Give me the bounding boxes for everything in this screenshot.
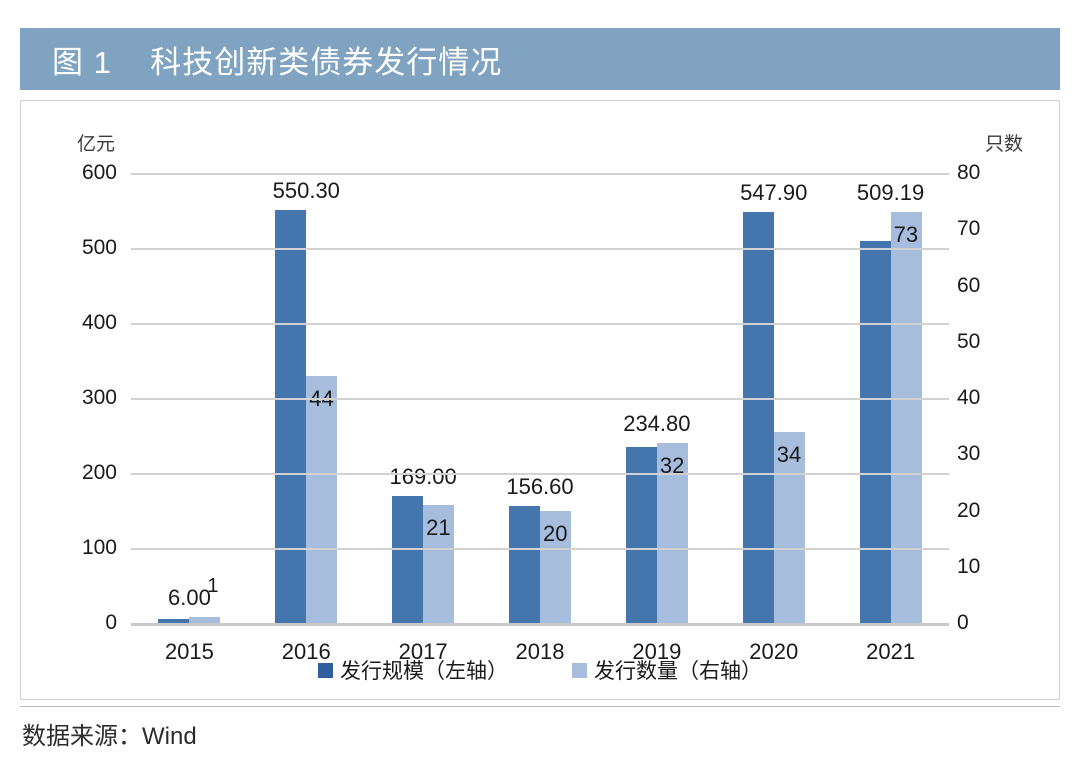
- right-axis-tick: 80: [957, 161, 1017, 185]
- right-axis-tick: 50: [957, 330, 1017, 354]
- right-axis-unit-label: 只数: [985, 129, 1023, 156]
- bar-count-label: 1: [207, 575, 218, 598]
- legend-swatch-icon: [318, 663, 333, 678]
- source-divider: [20, 706, 1060, 707]
- bar-count-label: 32: [660, 453, 684, 479]
- left-axis-tick: 0: [57, 611, 117, 635]
- chart-legend: 发行规模（左轴）发行数量（右轴）: [21, 655, 1059, 685]
- source-note: 数据来源：Wind: [22, 716, 197, 751]
- gridline: [131, 173, 949, 175]
- legend-swatch-icon: [572, 663, 587, 678]
- bar-value-label: 509.19: [857, 180, 924, 206]
- left-axis-unit-label: 亿元: [77, 129, 115, 156]
- bar-count-label: 73: [894, 222, 918, 248]
- bar-value-label: 550.30: [273, 178, 340, 204]
- gridline: [131, 548, 949, 550]
- right-axis-tick: 0: [957, 611, 1017, 635]
- gridline: [131, 398, 949, 400]
- right-axis-tick: 70: [957, 217, 1017, 241]
- bar-issuance-count[interactable]: [306, 376, 337, 624]
- right-axis-tick: 10: [957, 555, 1017, 579]
- left-axis-tick: 500: [57, 236, 117, 260]
- legend-label: 发行规模（左轴）: [340, 655, 508, 685]
- right-axis-tick: 60: [957, 274, 1017, 298]
- bar-value-label: 6.00: [168, 585, 211, 611]
- bar-issuance-scale[interactable]: [743, 212, 774, 623]
- bar-issuance-scale[interactable]: [509, 506, 540, 623]
- bar-value-label: 547.90: [740, 180, 807, 206]
- gridline: [131, 623, 949, 626]
- bar-value-label: 234.80: [623, 411, 690, 437]
- gridline: [131, 323, 949, 325]
- left-axis-tick: 600: [57, 161, 117, 185]
- plot-area: 6.0012015550.30442016169.00212017156.602…: [131, 173, 949, 623]
- figure-title: 图 1 科技创新类债券发行情况: [52, 37, 502, 82]
- bar-issuance-scale[interactable]: [275, 210, 306, 623]
- bar-issuance-scale[interactable]: [860, 241, 891, 623]
- gridline: [131, 248, 949, 250]
- right-axis-tick: 20: [957, 499, 1017, 523]
- left-axis-tick: 300: [57, 386, 117, 410]
- chart-frame: 亿元 只数 6.0012015550.30442016169.002120171…: [20, 100, 1060, 700]
- bar-count-label: 21: [426, 515, 450, 541]
- left-axis-tick: 100: [57, 536, 117, 560]
- legend-item[interactable]: 发行数量（右轴）: [572, 655, 762, 685]
- right-axis-tick: 40: [957, 386, 1017, 410]
- legend-item[interactable]: 发行规模（左轴）: [318, 655, 508, 685]
- left-axis-tick: 200: [57, 461, 117, 485]
- gridline: [131, 473, 949, 475]
- bar-count-label: 34: [777, 442, 801, 468]
- legend-label: 发行数量（右轴）: [594, 655, 762, 685]
- right-axis-tick: 30: [957, 442, 1017, 466]
- figure-title-band: 图 1 科技创新类债券发行情况: [20, 28, 1060, 90]
- figure-container: 图 1 科技创新类债券发行情况 亿元 只数 6.0012015550.30442…: [0, 0, 1080, 759]
- bar-value-label: 156.60: [506, 474, 573, 500]
- left-axis-tick: 400: [57, 311, 117, 335]
- bar-count-label: 20: [543, 521, 567, 547]
- bar-issuance-scale[interactable]: [392, 496, 423, 623]
- bar-issuance-count[interactable]: [891, 212, 922, 623]
- bar-value-label: 169.00: [389, 464, 456, 490]
